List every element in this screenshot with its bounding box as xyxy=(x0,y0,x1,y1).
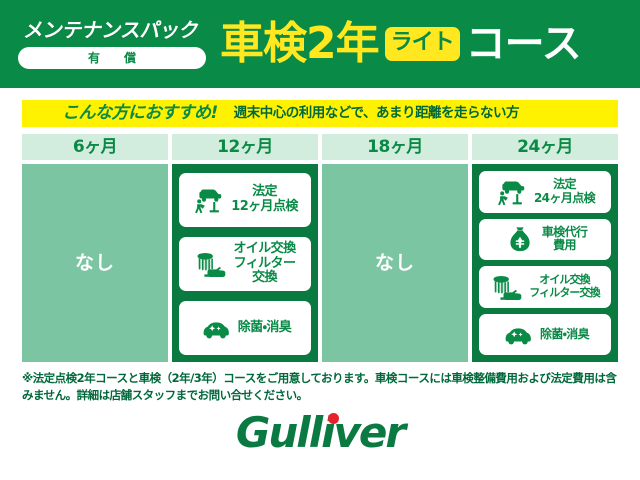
header-left-group: メンテナンスパック 有 償 xyxy=(18,20,216,69)
logo-red-dot-icon xyxy=(328,413,339,424)
schedule-column: 24ヶ月 法定 24ヶ月点検 車検代行 費用 オイル xyxy=(472,134,618,362)
footnote-text: ※法定点検2年コースと車検（2年/3年）コースをご用意しております。車検コースに… xyxy=(22,370,622,403)
column-body-none: なし xyxy=(322,164,468,362)
page-title-course: コース xyxy=(466,24,581,64)
service-item-card: 法定 24ヶ月点検 xyxy=(479,171,611,213)
service-item-label: 除菌・消臭 xyxy=(238,321,291,336)
schedule-column: 12ヶ月 法定 12ヶ月点検 オイル交換 フィルター 交換 xyxy=(172,134,318,362)
car-lift-inspection-icon xyxy=(192,185,226,215)
service-item-card: 車検代行 費用 xyxy=(479,219,611,261)
service-item-card: 除菌・消臭 xyxy=(479,314,611,356)
column-header-24ヶ月: 24ヶ月 xyxy=(472,134,618,160)
car-sanitize-icon xyxy=(199,313,233,343)
car-sanitize-icon xyxy=(501,319,535,349)
column-header-6ヶ月: 6ヶ月 xyxy=(22,134,168,160)
advertisement-page: メンテナンスパック 有 償 車検2年 ライト コース こんな方におすすめ! 週末… xyxy=(0,0,640,480)
gulliver-logo: Gulliver xyxy=(236,412,404,454)
column-header-18ヶ月: 18ヶ月 xyxy=(322,134,468,160)
schedule-column: 18ヶ月なし xyxy=(322,134,468,362)
service-item-card: 除菌・消臭 xyxy=(179,301,311,355)
service-item-label: 車検代行 費用 xyxy=(542,226,588,253)
schedule-column: 6ヶ月なし xyxy=(22,134,168,362)
service-item-label: 法定 24ヶ月点検 xyxy=(534,178,595,205)
column-body-items: 法定 12ヶ月点検 オイル交換 フィルター 交換 除菌・消臭 xyxy=(172,164,318,362)
maintenance-pack-label: メンテナンスパック xyxy=(23,20,201,40)
column-header-12ヶ月: 12ヶ月 xyxy=(172,134,318,160)
service-item-label: 法定 12ヶ月点検 xyxy=(231,185,298,214)
car-lift-inspection-icon xyxy=(495,177,529,207)
page-title-main: 車検2年 xyxy=(220,22,379,66)
recommendation-bar: こんな方におすすめ! 週末中心の利用などで、あまり距離を走らない方 xyxy=(22,100,618,127)
oil-filter-change-icon xyxy=(194,249,228,279)
column-body-none: なし xyxy=(22,164,168,362)
service-item-card: 法定 12ヶ月点検 xyxy=(179,173,311,227)
header-banner: メンテナンスパック 有 償 車検2年 ライト コース xyxy=(0,0,640,88)
gulliver-logo-text: Gulliver xyxy=(236,408,404,457)
maintenance-schedule-table: 6ヶ月なし12ヶ月 法定 12ヶ月点検 オイル交換 フィルター 交換 xyxy=(22,134,618,362)
paid-badge: 有 償 xyxy=(18,47,206,69)
column-body-items: 法定 24ヶ月点検 車検代行 費用 オイル交換 フィルター交換 除菌・消臭 xyxy=(472,164,618,362)
light-plan-badge: ライト xyxy=(385,27,460,61)
service-item-label: 除菌・消臭 xyxy=(540,328,589,341)
service-item-card: オイル交換 フィルター 交換 xyxy=(179,237,311,291)
oil-filter-change-icon xyxy=(490,272,524,302)
brand-logo-area: Gulliver xyxy=(0,412,640,454)
none-label: なし xyxy=(375,254,415,273)
recommendation-headline: こんな方におすすめ! xyxy=(62,105,218,122)
none-label: なし xyxy=(75,254,115,273)
service-item-label: オイル交換 フィルター 交換 xyxy=(233,242,295,286)
service-item-card: オイル交換 フィルター交換 xyxy=(479,266,611,308)
service-item-label: オイル交換 フィルター交換 xyxy=(529,274,599,299)
money-bag-yen-icon xyxy=(503,224,537,254)
header-right-group: 車検2年 ライト コース xyxy=(216,22,632,66)
recommendation-detail: 週末中心の利用などで、あまり距離を走らない方 xyxy=(234,107,519,121)
